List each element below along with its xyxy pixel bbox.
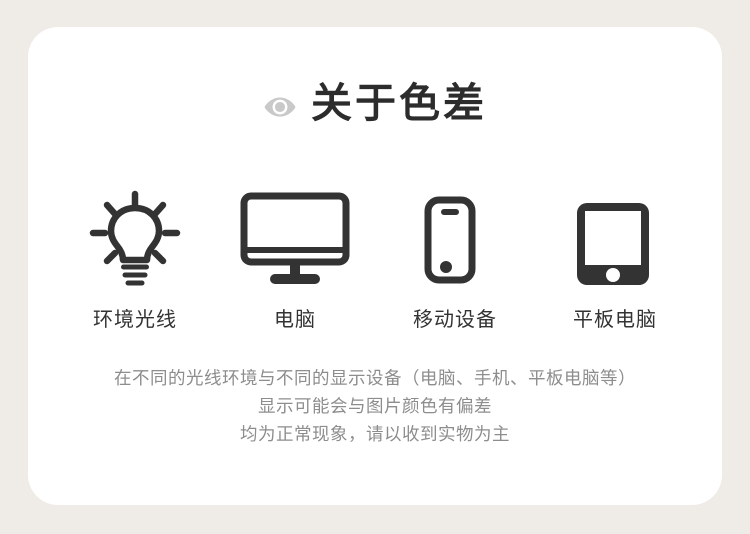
color-difference-note: 在不同的光线环境与不同的显示设备（电脑、手机、平板电脑等） 显示可能会与图片颜色…	[28, 364, 722, 448]
lightbulb-icon	[83, 188, 187, 292]
note-line: 显示可能会与图片颜色有偏差	[28, 392, 722, 420]
smartphone-icon-wrap	[423, 182, 487, 292]
device-icon-row: 环境光线 电脑	[60, 182, 690, 330]
device-item-computer: 电脑	[220, 182, 370, 330]
note-line: 均为正常现象，请以收到实物为主	[28, 420, 722, 448]
page-title: 关于色差	[311, 83, 487, 124]
tablet-icon	[573, 200, 657, 292]
tablet-icon-wrap	[573, 182, 657, 292]
device-item-mobile: 移动设备	[380, 182, 530, 330]
device-item-ambient-light: 环境光线	[60, 182, 210, 330]
smartphone-icon	[423, 196, 487, 292]
card-header: 关于色差	[28, 83, 722, 124]
device-label: 电脑	[274, 310, 316, 330]
desktop-monitor-icon-wrap	[240, 182, 350, 292]
lightbulb-icon-wrap	[83, 182, 187, 292]
page-background: 关于色差	[0, 0, 750, 534]
color-difference-card: 关于色差	[28, 27, 722, 505]
device-item-tablet: 平板电脑	[540, 182, 690, 330]
eye-icon	[263, 90, 297, 124]
device-label: 移动设备	[413, 310, 497, 330]
device-label: 平板电脑	[573, 310, 657, 330]
device-label: 环境光线	[93, 310, 177, 330]
desktop-monitor-icon	[240, 192, 350, 292]
note-line: 在不同的光线环境与不同的显示设备（电脑、手机、平板电脑等）	[28, 364, 722, 392]
